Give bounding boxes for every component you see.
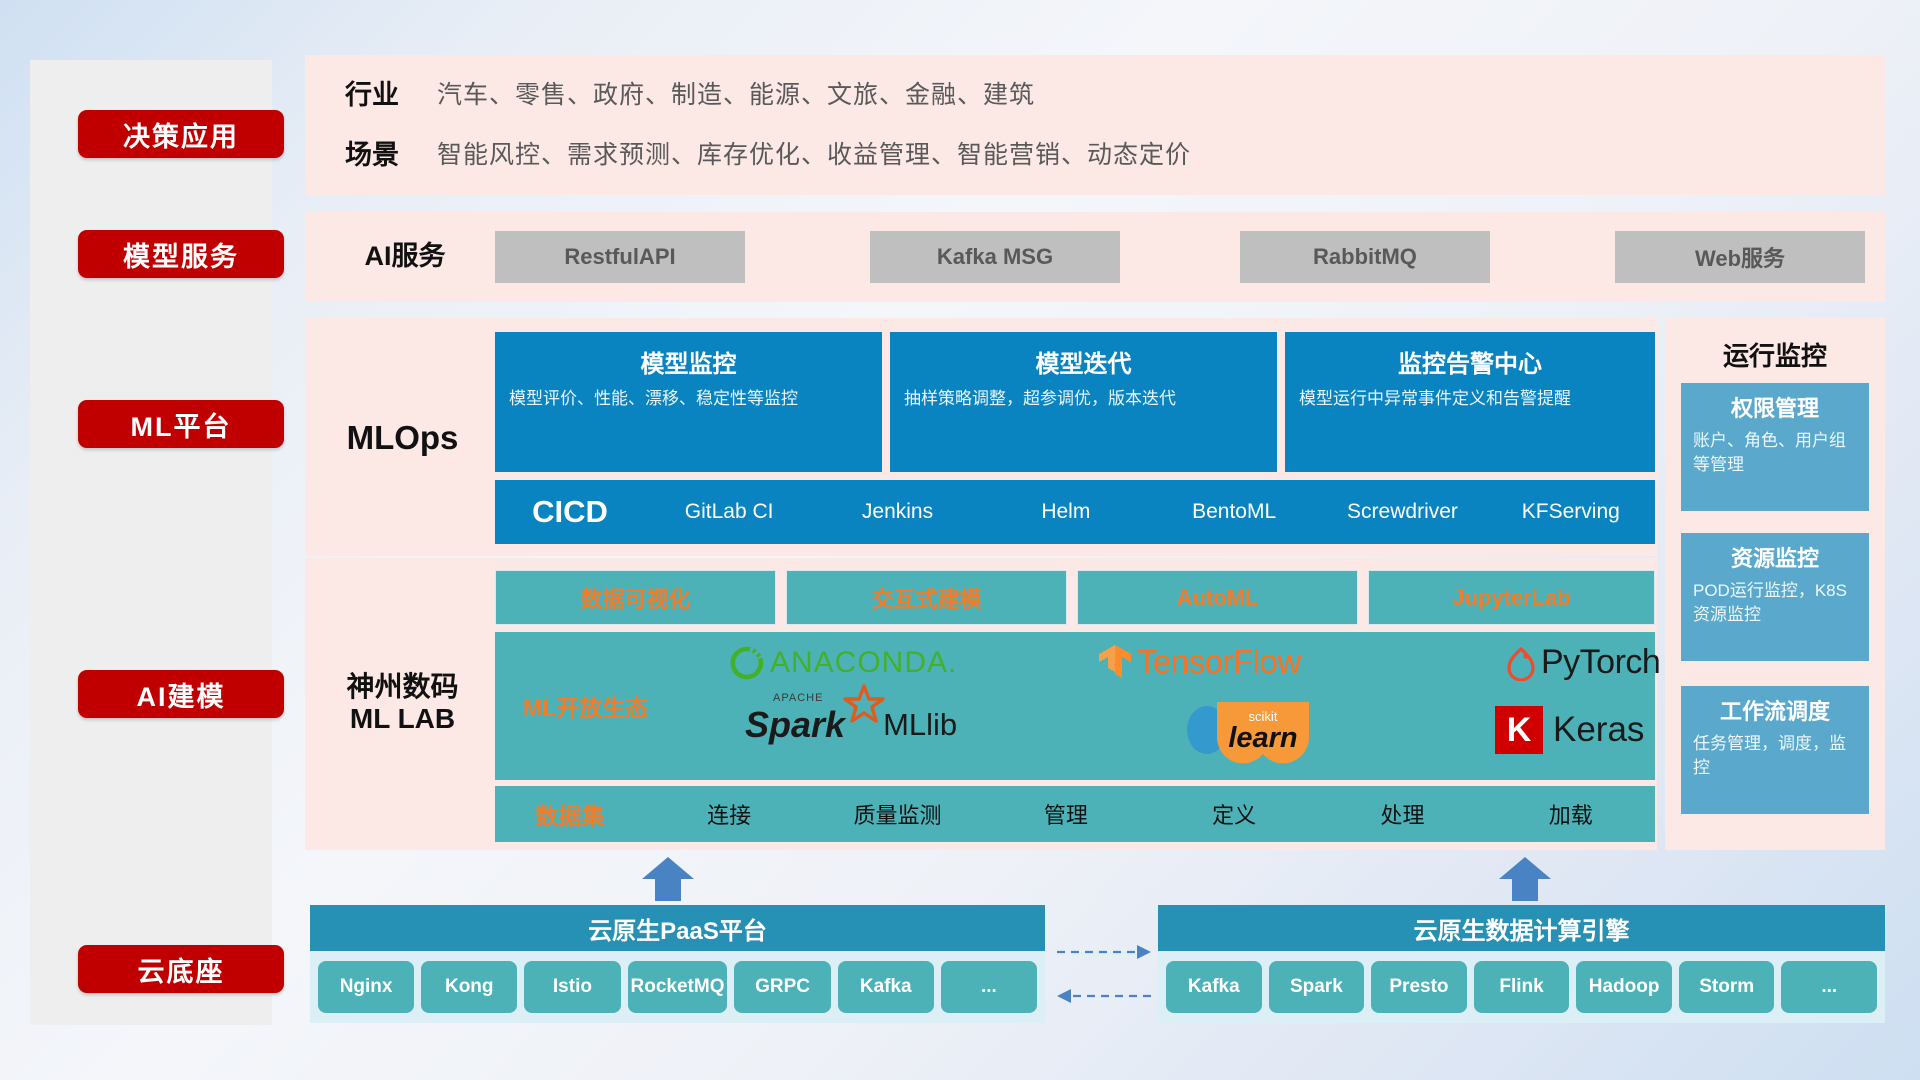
- chip-flink[interactable]: Flink: [1474, 961, 1570, 1013]
- chip-kafka[interactable]: Kafka: [1166, 961, 1262, 1013]
- cicd-label: CICD: [495, 494, 645, 530]
- learn-text: learn: [1215, 724, 1311, 753]
- cloud-paas-header: 云原生PaaS平台: [310, 905, 1045, 951]
- chip-hadoop[interactable]: Hadoop: [1576, 961, 1672, 1013]
- ml-lab-tab-jupyterlab[interactable]: JupyterLab: [1368, 570, 1655, 625]
- runtime-monitoring-panel: 运行监控 权限管理 账户、角色、用户组等管理 资源监控 POD运行监控，K8S资…: [1665, 318, 1885, 850]
- mllib-wordmark: MLlib: [883, 707, 957, 743]
- left-label-ai-modeling[interactable]: AI建模: [78, 670, 284, 718]
- left-label-text: 模型服务: [123, 235, 239, 274]
- mlops-label: MLOps: [325, 408, 480, 468]
- ml-lab-tab-data-visualization[interactable]: 数据可视化: [495, 570, 776, 625]
- left-label-text: ML平台: [131, 405, 232, 444]
- dashed-arrow-right-icon: [1055, 940, 1153, 1010]
- pytorch-logo: PyTorch: [1505, 643, 1660, 682]
- mlops-panel: MLOps 模型监控 模型评价、性能、漂移、稳定性等监控 模型迭代 抽样策略调整…: [305, 318, 1657, 556]
- dataset-item-define[interactable]: 定义: [1150, 798, 1318, 830]
- cicd-item-helm[interactable]: Helm: [982, 499, 1150, 524]
- ml-lab-label: 神州数码 ML LAB: [320, 663, 485, 743]
- mlops-card-desc: 模型评价、性能、漂移、稳定性等监控: [509, 387, 868, 412]
- tensorflow-logo: TensorFlow: [1095, 642, 1301, 682]
- monitor-card-title: 权限管理: [1693, 391, 1857, 423]
- left-label-text: 云底座: [138, 950, 225, 989]
- ml-ecosystem-label: ML开放生态: [523, 689, 648, 723]
- mlops-card-desc: 抽样策略调整，超参调优，版本迭代: [904, 387, 1263, 412]
- mlops-card-desc: 模型运行中异常事件定义和告警提醒: [1299, 387, 1641, 412]
- chip-grpc[interactable]: GRPC: [734, 961, 830, 1013]
- cloud-data-engine-chip-strip: Kafka Spark Presto Flink Hadoop Storm ..…: [1158, 951, 1885, 1023]
- monitor-card-desc: 账户、角色、用户组等管理: [1693, 429, 1857, 477]
- monitor-card-title: 工作流调度: [1693, 694, 1857, 726]
- industry-row: 行业 汽车、零售、政府、制造、能源、文旅、金融、建筑: [345, 73, 1035, 112]
- ml-lab-tab-label: JupyterLab: [1452, 585, 1571, 611]
- spark-apache-text: APACHE: [773, 692, 823, 704]
- left-label-model-service[interactable]: 模型服务: [78, 230, 284, 278]
- mlops-card-alert-center[interactable]: 监控告警中心 模型运行中异常事件定义和告警提醒: [1285, 332, 1655, 472]
- chip-storm[interactable]: Storm: [1679, 961, 1775, 1013]
- left-label-cloud-base[interactable]: 云底座: [78, 945, 284, 993]
- monitor-card-resource[interactable]: 资源监控 POD运行监控，K8S资源监控: [1681, 533, 1869, 661]
- ml-lab-tab-label: 交互式建模: [871, 582, 981, 614]
- left-label-text: 决策应用: [123, 115, 239, 154]
- cicd-item-kfserving[interactable]: KFServing: [1487, 499, 1655, 524]
- industry-value: 汽车、零售、政府、制造、能源、文旅、金融、建筑: [437, 75, 1035, 111]
- mlops-card-model-monitoring[interactable]: 模型监控 模型评价、性能、漂移、稳定性等监控: [495, 332, 882, 472]
- left-label-ml-platform[interactable]: ML平台: [78, 400, 284, 448]
- chip-rocketmq[interactable]: RocketMQ: [628, 961, 728, 1013]
- keras-k-mark: K: [1495, 706, 1543, 754]
- cicd-bar: CICD GitLab CI Jenkins Helm BentoML Scre…: [495, 480, 1655, 544]
- industry-key: 行业: [345, 73, 437, 112]
- ml-lab-panel: 神州数码 ML LAB 数据可视化 交互式建模 AutoML JupyterLa…: [305, 558, 1657, 850]
- mlops-card-title: 模型监控: [509, 344, 868, 379]
- ai-service-panel: AI服务 RestfulAPI Kafka MSG RabbitMQ Web服务: [305, 212, 1885, 302]
- up-arrow-paas-icon: [640, 855, 696, 901]
- scenario-value: 智能风控、需求预测、库存优化、收益管理、智能营销、动态定价: [437, 135, 1191, 171]
- keras-logo: K Keras: [1495, 706, 1644, 754]
- dataset-item-connect[interactable]: 连接: [645, 798, 813, 830]
- up-arrow-data-engine-icon: [1497, 855, 1553, 901]
- anaconda-logo: ANACONDA.: [730, 646, 957, 680]
- pytorch-wordmark: PyTorch: [1541, 643, 1660, 682]
- spark-mllib-logo: APACHE Spark MLlib: [745, 704, 957, 746]
- dataset-item-manage[interactable]: 管理: [982, 798, 1150, 830]
- chip-spark[interactable]: Spark: [1269, 961, 1365, 1013]
- mlops-card-title: 模型迭代: [904, 344, 1263, 379]
- chip-kong[interactable]: Kong: [421, 961, 517, 1013]
- ml-lab-tab-interactive-modeling[interactable]: 交互式建模: [786, 570, 1067, 625]
- monitor-card-desc: POD运行监控，K8S资源监控: [1693, 579, 1857, 627]
- dataset-item-process[interactable]: 处理: [1318, 798, 1486, 830]
- ai-service-label-text: Kafka MSG: [937, 244, 1053, 270]
- spark-wordmark: Spark: [745, 704, 845, 745]
- scikit-learn-logo: scikit learn: [1185, 702, 1311, 758]
- chip-more[interactable]: ...: [941, 961, 1037, 1013]
- ml-lab-tab-automl[interactable]: AutoML: [1077, 570, 1358, 625]
- ai-service-label-text: RestfulAPI: [564, 244, 675, 270]
- dataset-item-load[interactable]: 加载: [1487, 798, 1655, 830]
- chip-istio[interactable]: Istio: [524, 961, 620, 1013]
- ai-service-label: AI服务: [335, 234, 475, 280]
- runtime-monitoring-title: 运行监控: [1665, 336, 1885, 373]
- mlops-card-model-iteration[interactable]: 模型迭代 抽样策略调整，超参调优，版本迭代: [890, 332, 1277, 472]
- ai-service-restfulapi[interactable]: RestfulAPI: [495, 231, 745, 283]
- cicd-item-screwdriver[interactable]: Screwdriver: [1318, 499, 1486, 524]
- cloud-data-engine-header: 云原生数据计算引擎: [1158, 905, 1885, 951]
- chip-more[interactable]: ...: [1781, 961, 1877, 1013]
- cicd-item-bentoml[interactable]: BentoML: [1150, 499, 1318, 524]
- keras-wordmark: Keras: [1553, 710, 1644, 750]
- cloud-paas-chip-strip: Nginx Kong Istio RocketMQ GRPC Kafka ...: [310, 951, 1045, 1023]
- industry-scenario-panel: 行业 汽车、零售、政府、制造、能源、文旅、金融、建筑 场景 智能风控、需求预测、…: [305, 55, 1885, 195]
- dataset-row: 数据集 连接 质量监测 管理 定义 处理 加载: [495, 786, 1655, 842]
- dataset-item-quality[interactable]: 质量监测: [813, 798, 981, 830]
- tensorflow-wordmark: TensorFlow: [1137, 643, 1301, 681]
- ai-service-web[interactable]: Web服务: [1615, 231, 1865, 283]
- cicd-item-gitlab-ci[interactable]: GitLab CI: [645, 499, 813, 524]
- ai-service-rabbitmq[interactable]: RabbitMQ: [1240, 231, 1490, 283]
- ai-service-label-text: Web服务: [1695, 241, 1785, 273]
- ml-lab-tab-label: AutoML: [1177, 585, 1259, 611]
- scenario-row: 场景 智能风控、需求预测、库存优化、收益管理、智能营销、动态定价: [345, 133, 1191, 172]
- monitor-card-workflow[interactable]: 工作流调度 任务管理，调度，监控: [1681, 686, 1869, 814]
- ai-service-kafka-msg[interactable]: Kafka MSG: [870, 231, 1120, 283]
- cicd-item-jenkins[interactable]: Jenkins: [813, 499, 981, 524]
- chip-presto[interactable]: Presto: [1371, 961, 1467, 1013]
- monitor-card-title: 资源监控: [1693, 541, 1857, 573]
- chip-kafka[interactable]: Kafka: [838, 961, 934, 1013]
- ml-lab-tab-label: 数据可视化: [580, 582, 690, 614]
- dataset-label: 数据集: [495, 797, 645, 831]
- anaconda-wordmark: ANACONDA.: [770, 646, 957, 680]
- ml-lab-label-cn: 神州数码: [346, 671, 458, 703]
- diagram-canvas: 决策应用 模型服务 ML平台 AI建模 云底座 行业 汽车、零售、政府、制造、能…: [0, 0, 1920, 1080]
- left-label-decision-app[interactable]: 决策应用: [78, 110, 284, 158]
- mlops-card-title: 监控告警中心: [1299, 344, 1641, 379]
- monitor-card-permission[interactable]: 权限管理 账户、角色、用户组等管理: [1681, 383, 1869, 511]
- ml-lab-label-en: ML LAB: [350, 703, 455, 735]
- left-label-text: AI建模: [137, 675, 226, 714]
- monitor-card-desc: 任务管理，调度，监控: [1693, 732, 1857, 780]
- ai-service-label-text: RabbitMQ: [1313, 244, 1417, 270]
- left-label-column: 决策应用 模型服务 ML平台 AI建模 云底座: [30, 60, 272, 1025]
- ml-ecosystem-band: ML开放生态 ANACONDA. TensorFlow: [495, 632, 1655, 780]
- scenario-key: 场景: [345, 133, 437, 172]
- chip-nginx[interactable]: Nginx: [318, 961, 414, 1013]
